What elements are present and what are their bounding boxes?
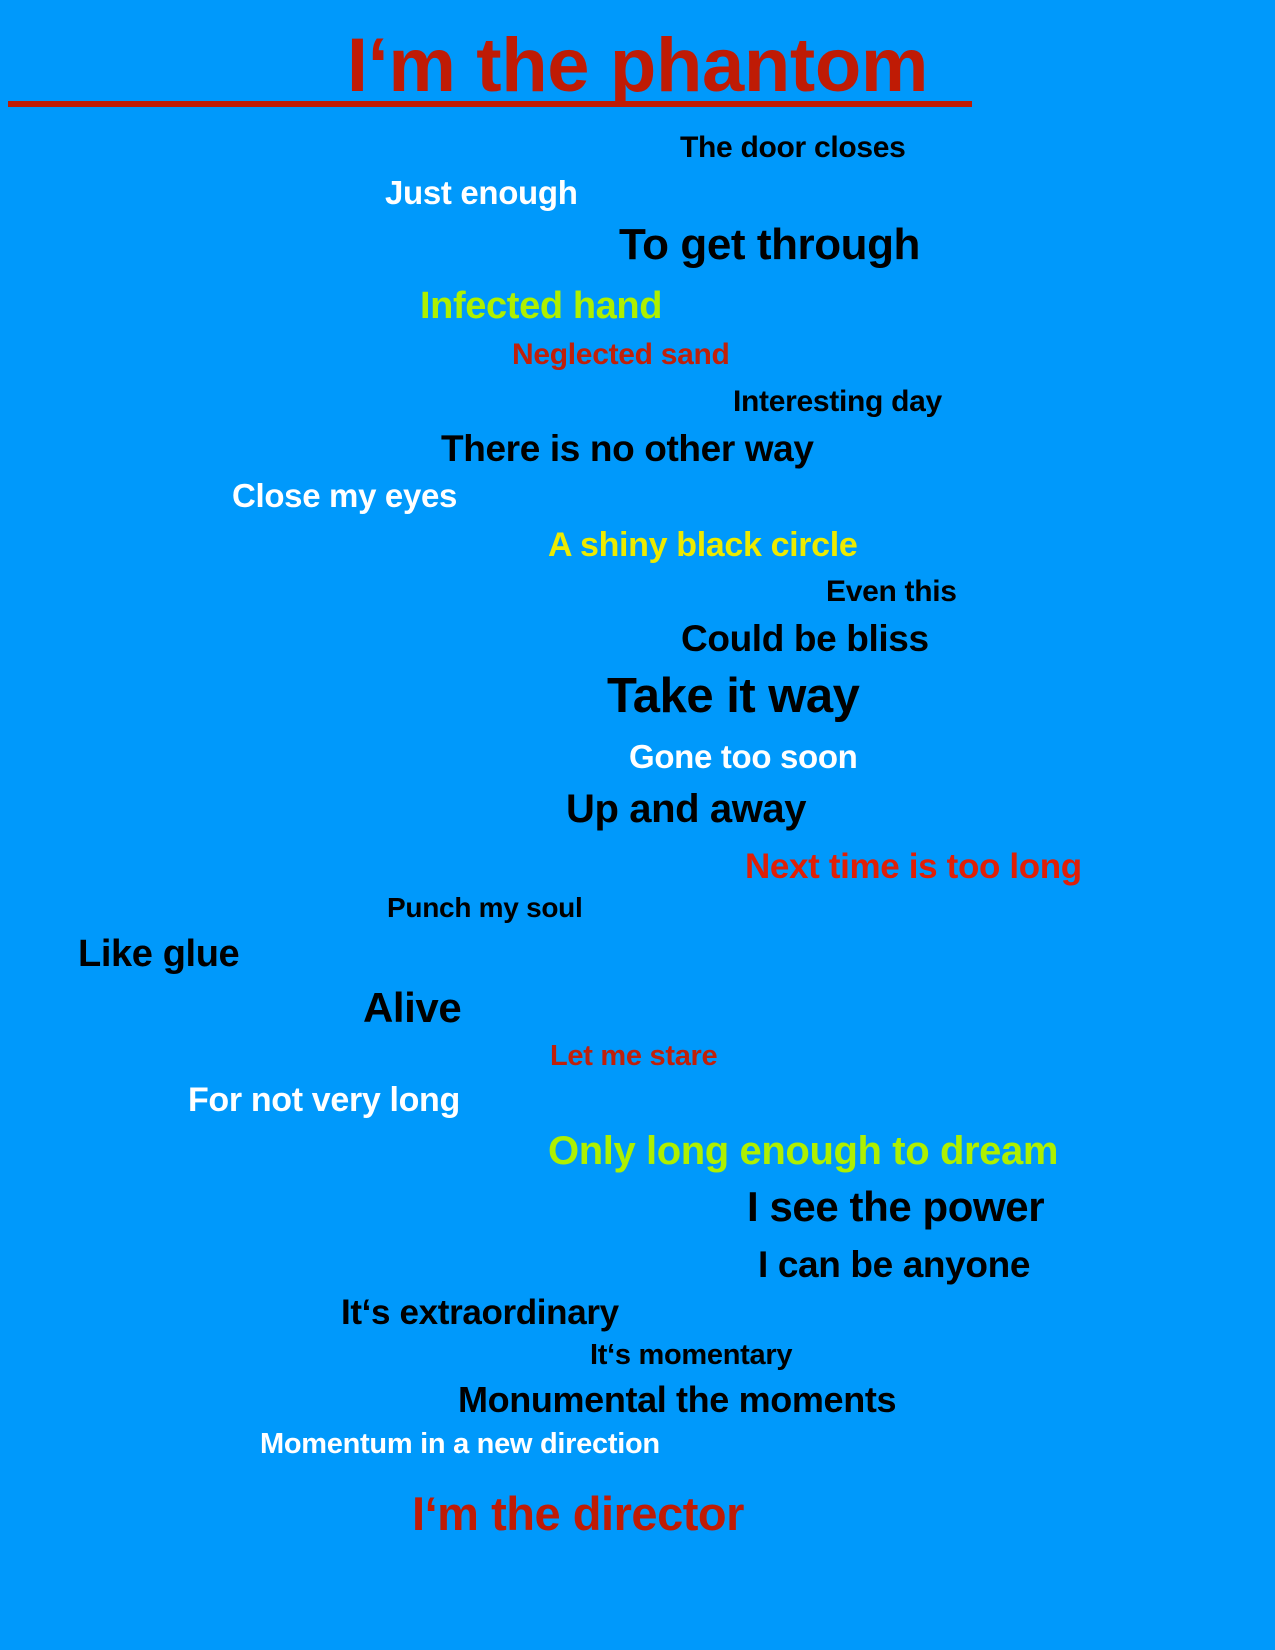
page-title: I‘m the phantom <box>0 28 1275 104</box>
lyric-line: Infected hand <box>420 287 662 325</box>
title-block: I‘m the phantom <box>0 0 1275 125</box>
lyric-line: A shiny black circle <box>548 528 857 562</box>
lyric-line: It‘s momentary <box>590 1341 792 1370</box>
lyric-line: I can be anyone <box>758 1246 1030 1283</box>
lyric-line: Even this <box>826 577 957 607</box>
lyric-line: Like glue <box>78 935 239 973</box>
lyric-line: Punch my soul <box>387 894 583 922</box>
lyric-line: Close my eyes <box>232 479 457 512</box>
lyric-line: For not very long <box>188 1083 460 1117</box>
lyric-line: Momentum in a new direction <box>260 1430 660 1459</box>
lyric-line: Take it way <box>607 672 859 721</box>
lyric-line: Could be bliss <box>681 620 929 657</box>
lyric-line: Interesting day <box>733 387 942 417</box>
lyric-line: Alive <box>363 987 461 1029</box>
lyric-line: There is no other way <box>441 430 814 467</box>
lyric-line: It‘s extraordinary <box>341 1295 619 1330</box>
lyric-line: I‘m the director <box>412 1490 744 1537</box>
lyric-line: Up and away <box>566 789 806 829</box>
lyric-line: Monumental the moments <box>458 1382 896 1418</box>
lyric-line: The door closes <box>680 133 906 163</box>
lyric-line: Just enough <box>385 176 578 209</box>
lyric-line: I see the power <box>747 1186 1044 1228</box>
lyric-line: Gone too soon <box>629 740 858 773</box>
lyric-line: Only long enough to dream <box>548 1131 1058 1171</box>
lyric-line: Let me stare <box>550 1042 717 1071</box>
lyric-line: Neglected sand <box>512 340 730 370</box>
lyric-line: To get through <box>619 223 920 267</box>
poem-poster: I‘m the phantom The door closesJust enou… <box>0 0 1275 1650</box>
lyric-line: Next time is too long <box>745 849 1082 884</box>
title-underline-rule <box>8 101 972 107</box>
